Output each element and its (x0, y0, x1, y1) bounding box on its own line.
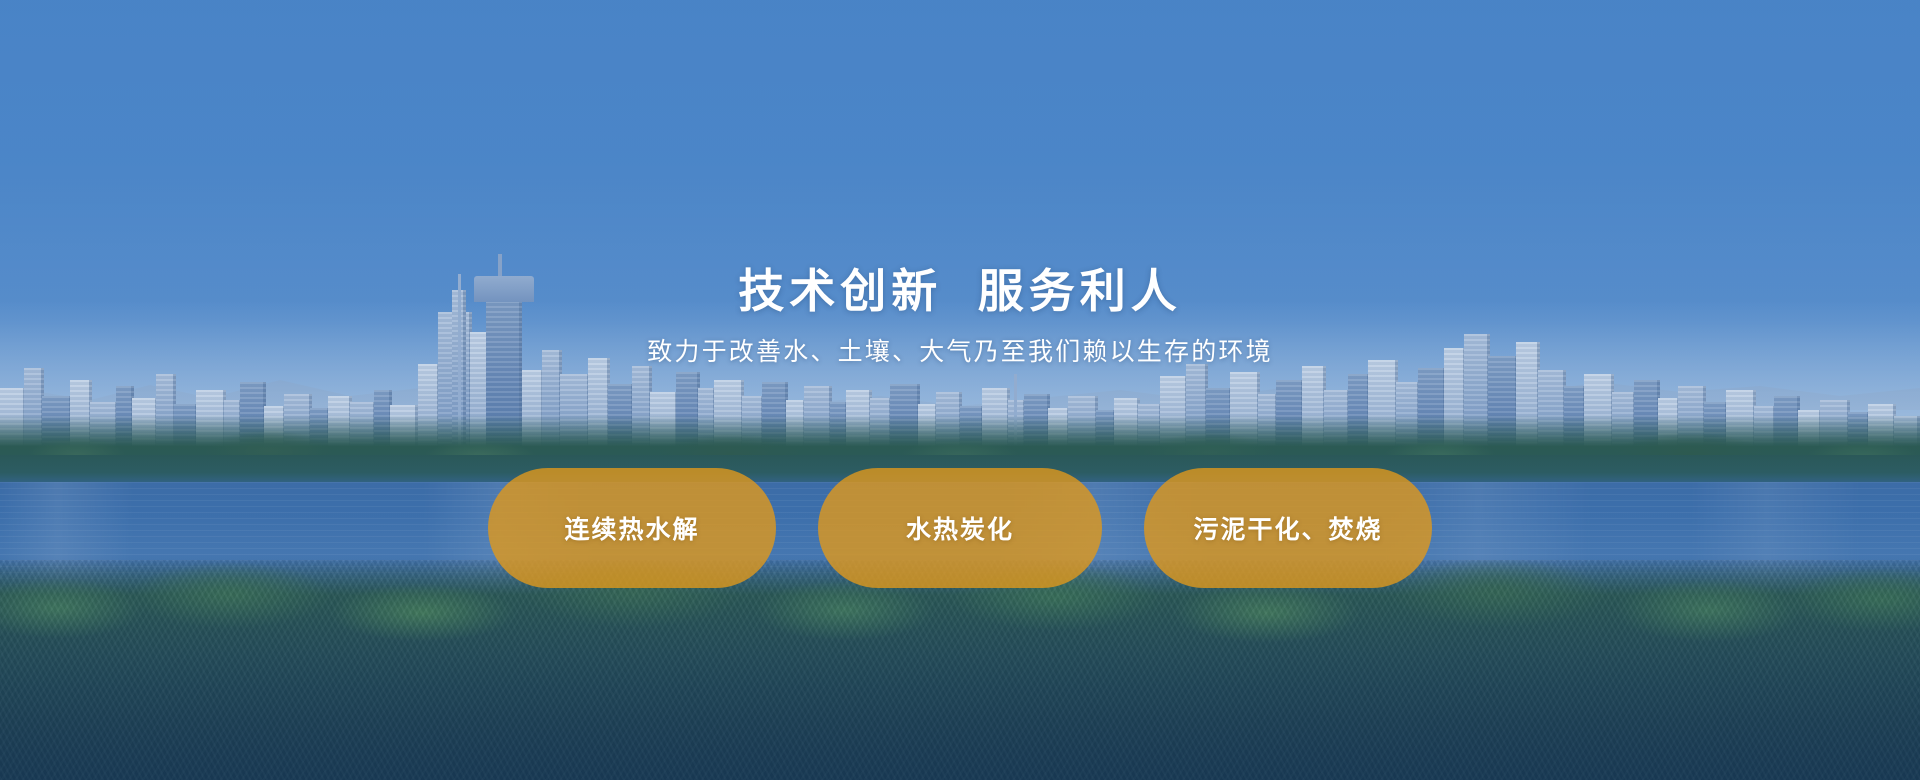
hero-content: 技术创新 服务利人 致力于改善水、土壤、大气乃至我们赖以生存的环境 (0, 0, 1920, 780)
service-button-label: 污泥干化、焚烧 (1193, 510, 1382, 546)
page-title: 技术创新 服务利人 (738, 268, 1182, 314)
service-button-hydrothermal-carbonization[interactable]: 水热炭化 (818, 468, 1102, 588)
hero-subtitle: 致力于改善水、土壤、大气乃至我们赖以生存的环境 (647, 340, 1273, 365)
service-button-group: 连续热水解 水热炭化 污泥干化、焚烧 (488, 468, 1432, 588)
service-button-label: 水热炭化 (906, 510, 1014, 546)
hero-banner: 技术创新 服务利人 致力于改善水、土壤、大气乃至我们赖以生存的环境 连续热水解 … (0, 0, 1920, 780)
service-button-sludge-drying-incineration[interactable]: 污泥干化、焚烧 (1144, 468, 1432, 588)
service-button-label: 连续热水解 (564, 510, 699, 546)
service-button-continuous-thermal-hydrolysis[interactable]: 连续热水解 (488, 468, 776, 588)
